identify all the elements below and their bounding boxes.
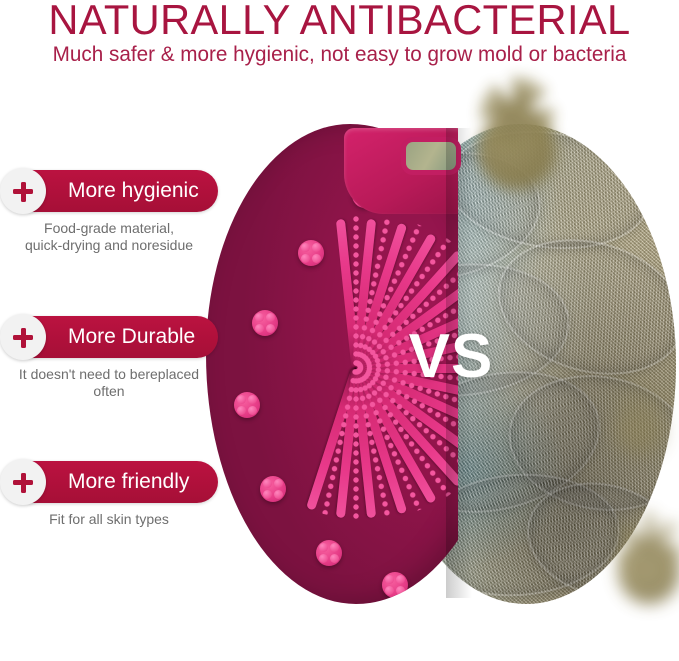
feature-pill[interactable]: More friendly: [12, 461, 218, 503]
brush-top-shoulder: [344, 128, 458, 214]
feature-caption: It doesn't need to bereplaced often: [0, 366, 218, 400]
feature-label: More hygienic: [68, 179, 199, 202]
brush-nub: [382, 572, 408, 598]
plus-icon: [0, 314, 46, 360]
feature-caption: Food-grade material, quick-drying and no…: [0, 220, 218, 254]
feature-pill[interactable]: More hygienic: [12, 170, 218, 212]
brush-nub: [234, 392, 260, 418]
plus-icon: [0, 459, 46, 505]
feature-label: More friendly: [68, 470, 189, 493]
plus-icon: [0, 168, 46, 214]
header: NATURALLY ANTIBACTERIAL Much safer & mor…: [0, 0, 679, 76]
brush-nub: [298, 240, 324, 266]
feature-item-more-hygienic: More hygienic Food-grade material, quick…: [0, 170, 218, 254]
page-title: NATURALLY ANTIBACTERIAL: [3, 0, 675, 43]
feature-pill[interactable]: More Durable: [12, 316, 218, 358]
feature-item-more-friendly: More friendly Fit for all skin types: [0, 461, 218, 528]
brush-hang-hole: [406, 142, 456, 170]
brush-nub: [260, 476, 286, 502]
page-subtitle: Much safer & more hygienic, not easy to …: [5, 42, 674, 68]
brush-nub: [252, 310, 278, 336]
product-comparison-image: VS: [196, 88, 679, 633]
product-comparison-infographic: NATURALLY ANTIBACTERIAL Much safer & mor…: [0, 0, 679, 661]
feature-item-more-durable: More Durable It doesn't need to bereplac…: [0, 316, 218, 400]
vs-label: VS: [386, 326, 516, 388]
feature-label: More Durable: [68, 325, 195, 348]
feature-caption: Fit for all skin types: [0, 511, 218, 528]
brush-nub: [316, 540, 342, 566]
